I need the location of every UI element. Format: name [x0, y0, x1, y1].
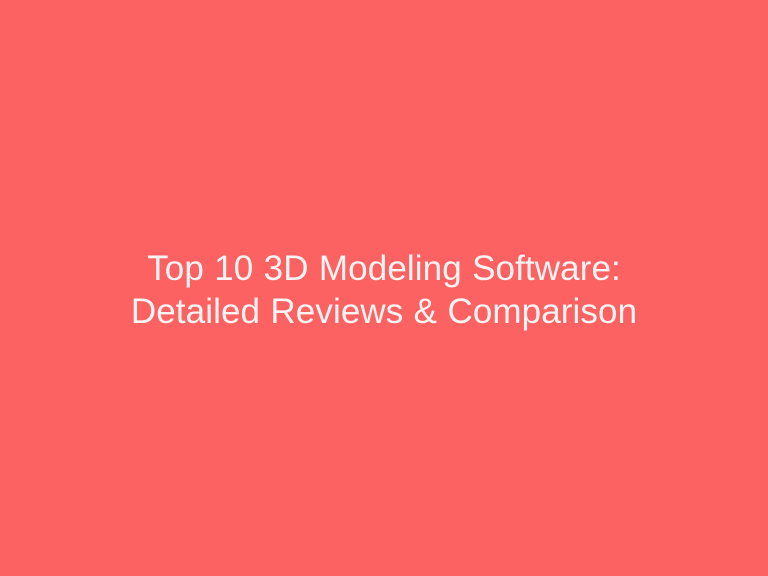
page-title: Top 10 3D Modeling Software: Detailed Re…: [84, 247, 684, 333]
title-block: Top 10 3D Modeling Software: Detailed Re…: [84, 247, 684, 333]
hero-banner: Top 10 3D Modeling Software: Detailed Re…: [0, 0, 768, 576]
